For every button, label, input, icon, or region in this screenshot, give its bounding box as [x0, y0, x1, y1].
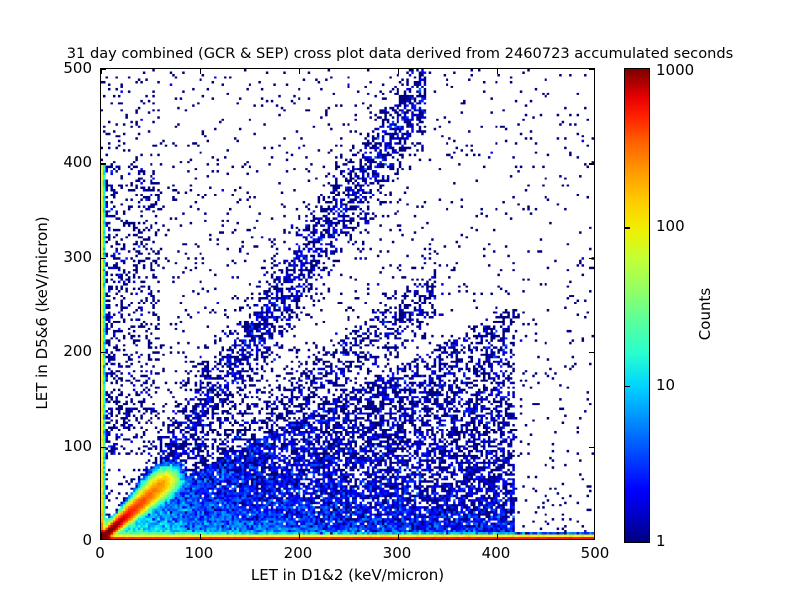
colorbar-label: Counts	[696, 254, 714, 374]
colorbar-tick-label: 10	[656, 376, 675, 394]
histogram-canvas	[101, 69, 594, 539]
x-tick-mark	[398, 534, 399, 539]
x-tick-mark	[200, 69, 201, 74]
y-tick-label: 100	[0, 437, 92, 455]
x-tick-mark	[398, 69, 399, 74]
y-tick-mark	[589, 163, 594, 164]
x-tick-label: 400	[482, 544, 511, 562]
x-tick-label: 300	[383, 544, 412, 562]
x-tick-label: 0	[95, 544, 105, 562]
y-tick-mark	[101, 258, 106, 259]
y-tick-label: 0	[0, 531, 92, 549]
plot-figure: 31 day combined (GCR & SEP) cross plot d…	[0, 0, 800, 600]
y-tick-mark	[589, 69, 594, 70]
x-tick-mark	[497, 534, 498, 539]
x-tick-label: 200	[284, 544, 313, 562]
y-tick-mark	[101, 69, 106, 70]
x-tick-mark	[497, 69, 498, 74]
y-axis-label: LET in D5&6 (keV/micron)	[33, 193, 51, 433]
x-tick-mark	[101, 534, 102, 539]
y-tick-mark	[589, 258, 594, 259]
colorbar-tick-mark	[624, 386, 630, 387]
colorbar-tick-label: 1000	[656, 61, 694, 79]
colorbar-tick-label: 100	[656, 217, 685, 235]
y-tick-mark	[101, 352, 106, 353]
y-tick-mark	[101, 447, 106, 448]
x-axis-label: LET in D1&2 (keV/micron)	[100, 566, 595, 584]
colorbar-tick-mark	[624, 227, 630, 228]
x-tick-label: 100	[185, 544, 214, 562]
y-tick-label: 500	[0, 59, 92, 77]
y-tick-label: 400	[0, 153, 92, 171]
x-tick-label: 500	[581, 544, 610, 562]
plot-axes	[100, 68, 595, 540]
x-tick-mark	[299, 534, 300, 539]
colorbar-tick-label: 1	[656, 532, 666, 550]
colorbar	[624, 68, 650, 543]
x-tick-mark	[200, 534, 201, 539]
y-tick-mark	[589, 352, 594, 353]
y-tick-mark	[101, 163, 106, 164]
x-tick-mark	[299, 69, 300, 74]
y-tick-mark	[589, 447, 594, 448]
